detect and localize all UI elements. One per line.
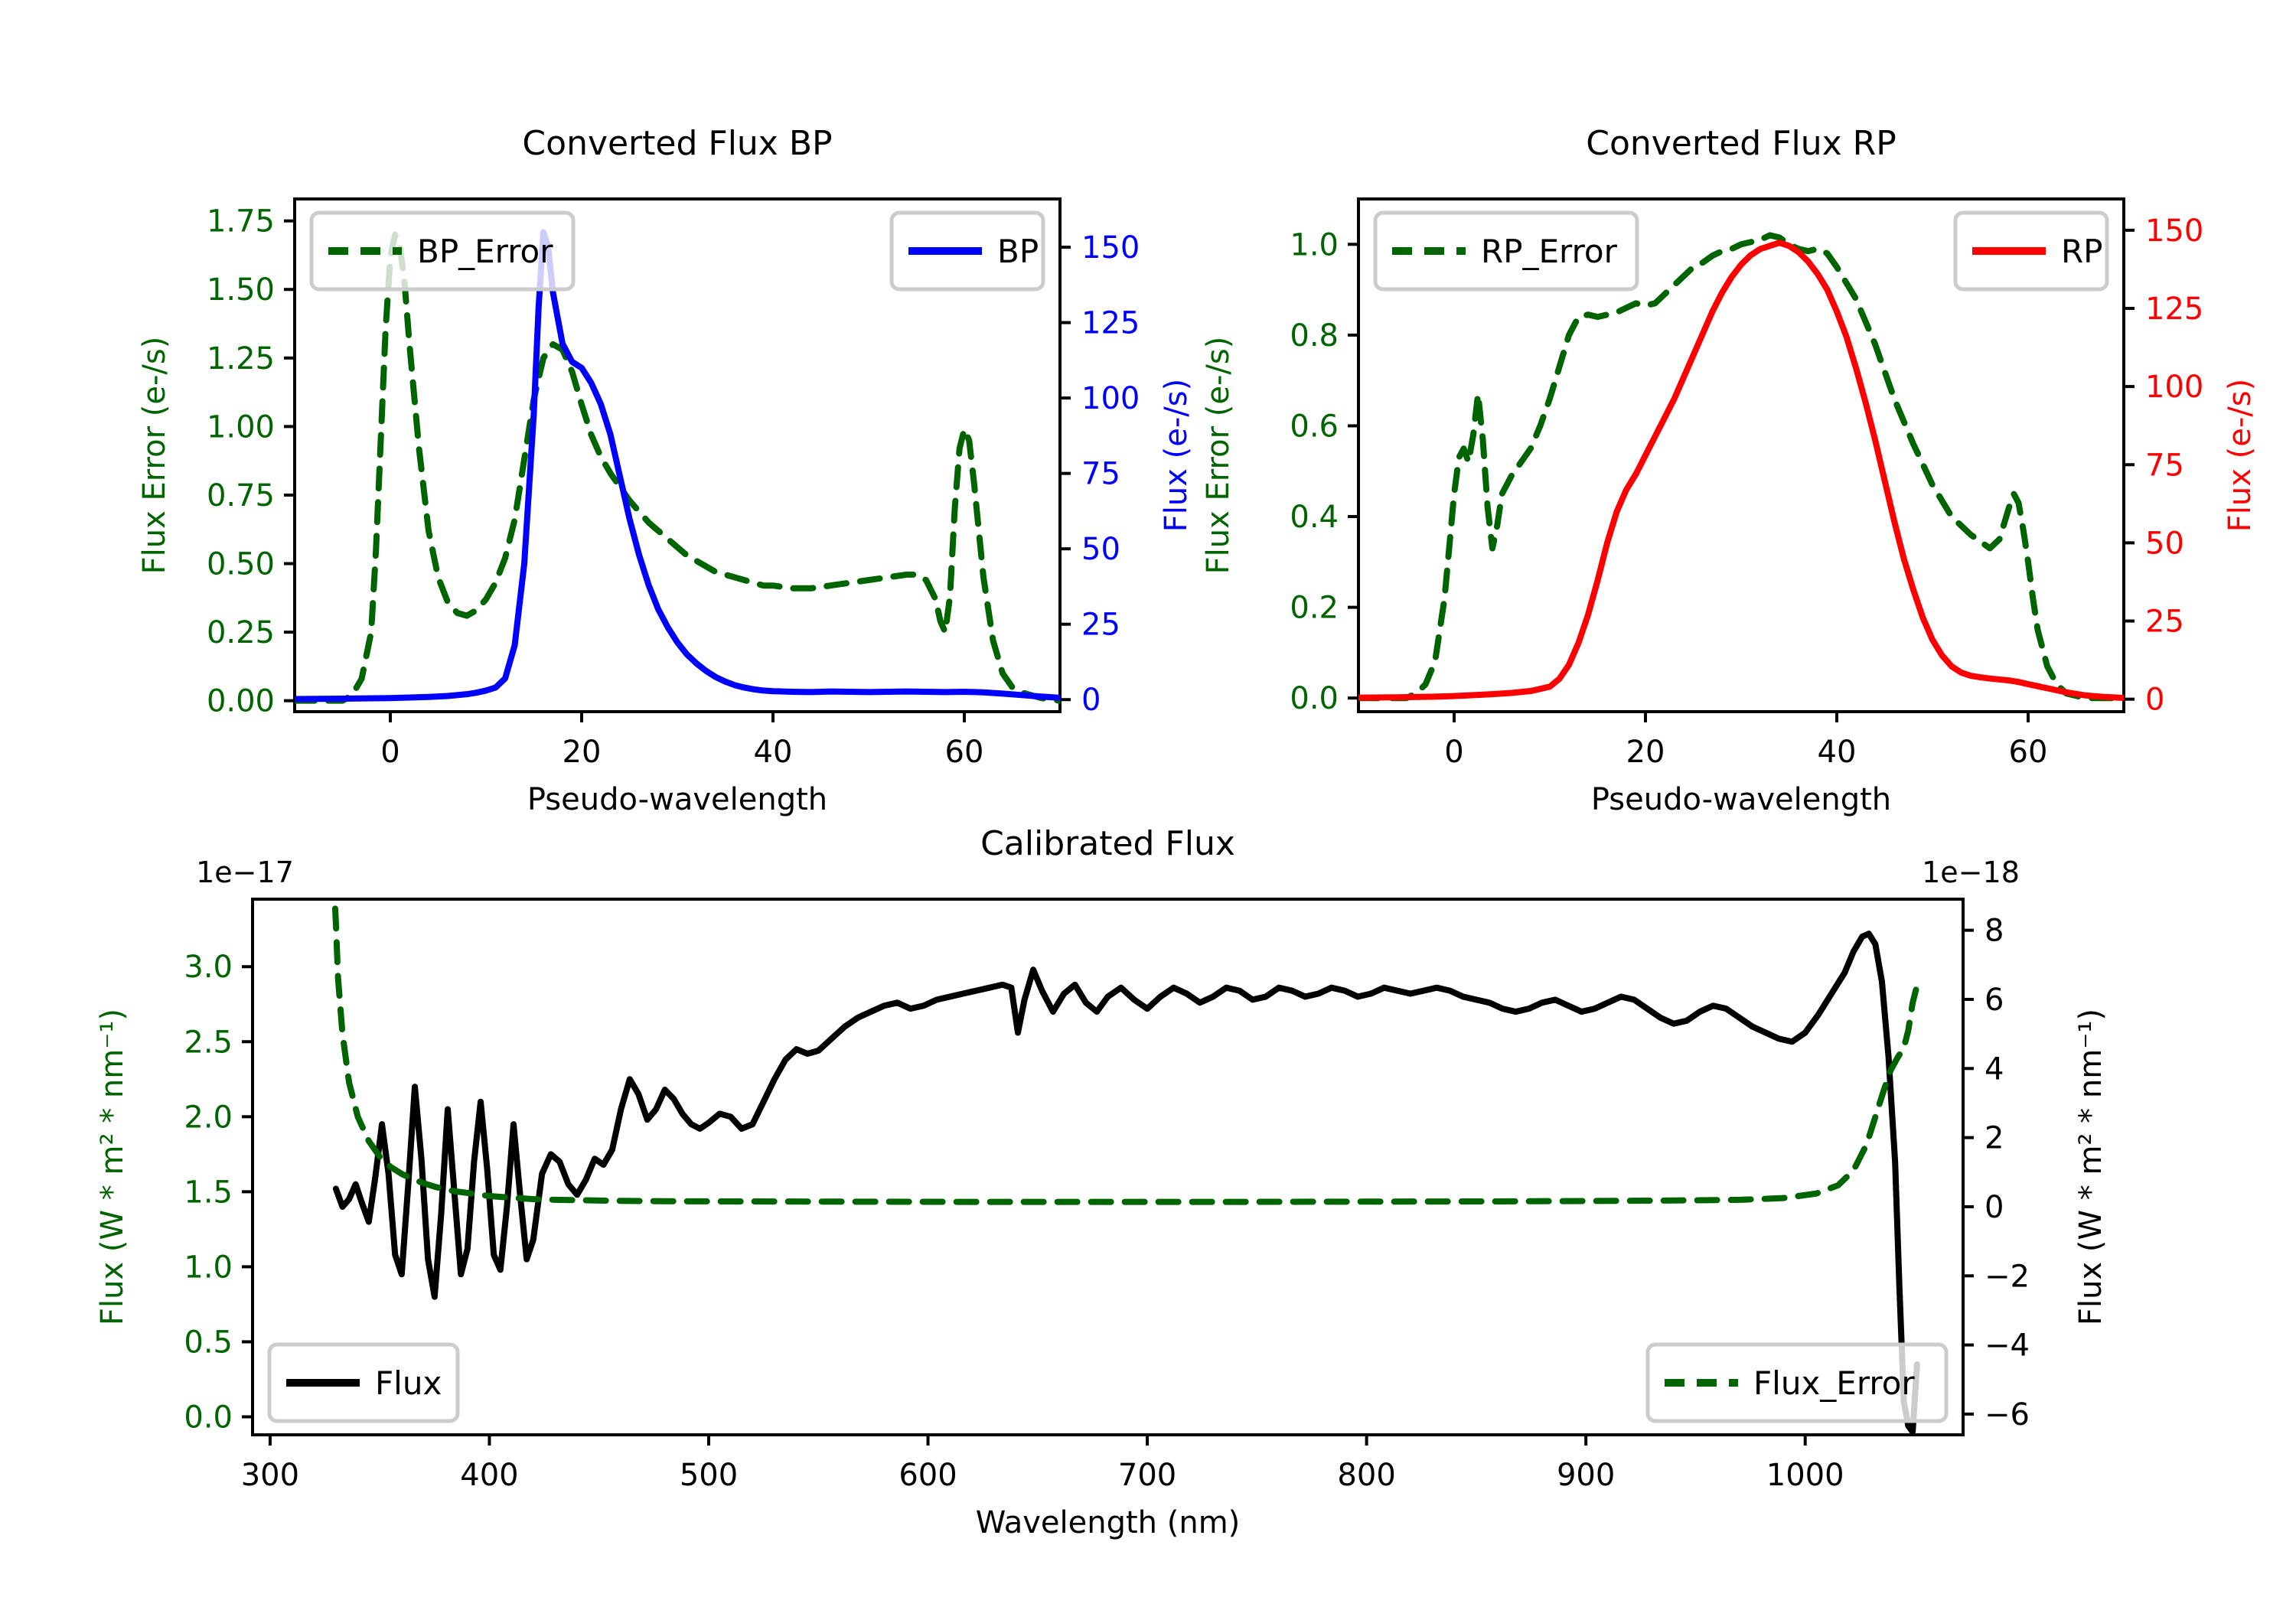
x-tick-label: 0 [380,735,400,770]
y2-tick-label: 6 [1985,983,2004,1018]
series-rp_error [1358,235,2124,698]
chart-title: Converted Flux RP [1586,124,1896,163]
y-axis-left-offset-text: 1e−17 [196,856,294,889]
y2-tick-label: 0 [1081,683,1101,718]
x-tick-label: 700 [1118,1458,1176,1493]
y-axis-left: 0.00.20.40.60.81.0Flux Error (e-/s) [1201,227,1358,716]
x-tick-label: 800 [1337,1458,1395,1493]
x-tick-label: 60 [945,735,984,770]
legend-bp[interactable]: BP [892,213,1043,289]
y-axis-right-offset-text: 1e−18 [1922,856,2020,889]
y-axis-left: 0.000.250.500.751.001.251.501.75Flux Err… [137,204,295,719]
x-tick-label: 500 [680,1458,738,1493]
y2-tick-label: 4 [1985,1051,2004,1087]
legend-bp_error[interactable]: BP_Error [311,213,573,289]
data-layer [1358,235,2124,698]
subplot-converted-flux-bp: Converted Flux BP0204060Pseudo-wavelengt… [137,124,1194,817]
x-tick-label: 40 [1818,735,1857,770]
x-tick-label: 40 [754,735,793,770]
x-axis: 0204060Pseudo-wavelength [1444,712,2047,817]
y2-tick-label: 150 [2145,214,2203,249]
series-flux_error [334,875,1917,1201]
y-tick-label: 1.25 [207,341,275,376]
y-tick-label: 0.2 [1290,591,1339,626]
subplot-calibrated-flux: Calibrated Flux3004005006007008009001000… [95,824,2108,1540]
legend-label: BP [997,233,1039,270]
y-axis-right-label: Flux (e-/s) [2223,379,2258,532]
legend-label: RP_Error [1481,233,1618,270]
matplotlib-figure: Converted Flux BP0204060Pseudo-wavelengt… [0,0,2296,1607]
y2-tick-label: −6 [1985,1397,2030,1433]
y-axis-right-label: Flux (e-/s) [1159,379,1194,532]
x-tick-label: 300 [241,1458,299,1493]
y2-tick-label: 125 [1081,306,1140,341]
legend-flux_error[interactable]: Flux_Error [1648,1345,1946,1421]
y2-tick-label: 25 [2145,605,2184,640]
y-tick-label: 0.75 [207,478,275,513]
y2-tick-label: 25 [1081,608,1120,643]
legend-rp_error[interactable]: RP_Error [1375,213,1637,289]
y-axis-left: 0.00.51.01.52.02.53.0Flux (W * m² * nm⁻¹… [95,856,294,1435]
y-axis-right: 0255075100125150Flux (e-/s) [2124,214,2258,718]
legend-label: BP_Error [417,233,553,270]
y2-tick-label: 50 [2145,526,2184,561]
x-tick-label: 400 [460,1458,518,1493]
figure-canvas: Converted Flux BP0204060Pseudo-wavelengt… [0,0,2296,1607]
y-tick-label: 0.8 [1290,318,1339,354]
legend-label: Flux [375,1364,442,1402]
y-tick-label: 1.0 [1290,227,1339,262]
y2-tick-label: 75 [1081,457,1120,492]
y-tick-label: 0.5 [184,1325,233,1360]
y2-tick-label: 150 [1081,230,1140,266]
y-tick-label: 1.0 [184,1250,233,1285]
y-axis-right-label: Flux (W * m² * nm⁻¹) [2073,1009,2108,1325]
x-axis: 3004005006007008009001000Wavelength (nm) [241,1435,1844,1540]
y2-tick-label: 8 [1985,914,2004,949]
y2-tick-label: −4 [1985,1328,2030,1364]
x-tick-label: 1000 [1766,1458,1844,1493]
x-tick-label: 20 [563,735,602,770]
y-tick-label: 3.0 [184,950,233,985]
x-axis-label: Wavelength (nm) [976,1505,1241,1540]
y2-tick-label: 75 [2145,448,2184,483]
y2-tick-label: 100 [2145,370,2203,405]
y-tick-label: 0.0 [1290,681,1339,716]
y-axis-left-label: Flux Error (e-/s) [137,337,172,575]
x-tick-label: 900 [1557,1458,1615,1493]
legend-flux[interactable]: Flux [269,1345,458,1421]
y-tick-label: 1.5 [184,1175,233,1210]
y-tick-label: 0.4 [1290,500,1339,535]
series-bp_error [295,235,1060,701]
y2-tick-label: 125 [2145,292,2203,327]
y-tick-label: 2.0 [184,1100,233,1135]
data-layer [295,232,1060,700]
y-tick-label: 0.00 [207,684,275,719]
x-tick-label: 20 [1626,735,1665,770]
y-axis-right: −6−4−202468Flux (W * m² * nm⁻¹)1e−18 [1922,856,2108,1433]
x-tick-label: 0 [1444,735,1463,770]
y-tick-label: 0.25 [207,615,275,650]
y-tick-label: 1.50 [207,272,275,308]
y2-tick-label: 50 [1081,532,1120,567]
y-axis-left-label: Flux (W * m² * nm⁻¹) [95,1009,130,1325]
y2-tick-label: 0 [2145,683,2164,718]
y-tick-label: 0.50 [207,547,275,582]
y-axis-right: 0255075100125150Flux (e-/s) [1060,230,1194,718]
subplot-converted-flux-rp: Converted Flux RP0204060Pseudo-wavelengt… [1201,124,2258,817]
legend-label: RP [2061,233,2103,270]
y-tick-label: 0.0 [184,1400,233,1435]
chart-title: Converted Flux BP [522,124,832,163]
y2-tick-label: 2 [1985,1121,2004,1156]
series-rp [1358,243,2124,698]
x-axis-label: Pseudo-wavelength [1591,782,1891,817]
y-tick-label: 1.00 [207,409,275,445]
x-axis: 0204060Pseudo-wavelength [380,712,983,817]
chart-title: Calibrated Flux [980,824,1235,863]
y-tick-label: 0.6 [1290,409,1339,444]
y-tick-label: 2.5 [184,1025,233,1060]
x-tick-label: 60 [2009,735,2048,770]
legend-rp[interactable]: RP [1955,213,2107,289]
x-tick-label: 600 [899,1458,957,1493]
y2-tick-label: 0 [1985,1190,2004,1225]
y-axis-left-label: Flux Error (e-/s) [1201,337,1236,575]
y2-tick-label: 100 [1081,381,1140,416]
y-tick-label: 1.75 [207,204,275,240]
y2-tick-label: −2 [1985,1259,2030,1294]
legend-label: Flux_Error [1753,1364,1915,1402]
x-axis-label: Pseudo-wavelength [527,782,827,817]
